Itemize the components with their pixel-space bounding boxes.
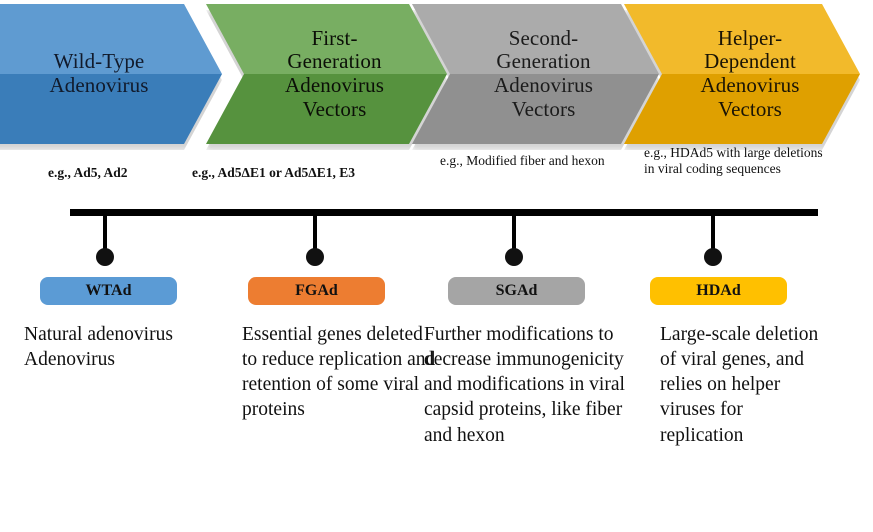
chevron-label-second-generation: Second-GenerationAdenovirusVectors: [468, 27, 603, 121]
description-helper-dependent: Large-scale deletion of viral genes, and…: [660, 322, 828, 448]
example-note-first-generation: e.g., Ad5ΔE1 or Ad5ΔE1, E3: [192, 165, 424, 181]
figure-canvas: Wild-TypeAdenovirus First-GenerationAden…: [0, 0, 873, 532]
example-note-second-generation: e.g., Modified fiber and hexon: [440, 153, 620, 169]
timeline-marker-first-generation: [306, 248, 324, 266]
timeline-marker-wild-type: [96, 248, 114, 266]
stage-badge-fgad[interactable]: FGAd: [248, 277, 385, 305]
stage-badge-hdad[interactable]: HDAd: [650, 277, 787, 305]
timeline-marker-second-generation: [505, 248, 523, 266]
stage-badge-sgad[interactable]: SGAd: [448, 277, 585, 305]
chevron-wild-type: Wild-TypeAdenovirus: [0, 4, 222, 144]
description-first-generation: Essential genes deleted to reduce replic…: [242, 322, 438, 423]
chevron-label-helper-dependent: Helper-DependentAdenovirusVectors: [675, 27, 810, 121]
description-wild-type: Natural adenovirusAdenovirus: [24, 322, 236, 372]
stage-badge-label-wtad: WTAd: [86, 282, 132, 300]
stage-badge-label-hdad: HDAd: [696, 282, 740, 300]
chevron-band: Wild-TypeAdenovirus First-GenerationAden…: [0, 0, 873, 148]
timeline-axis: [70, 209, 818, 216]
chevron-label-wild-type: Wild-TypeAdenovirus: [24, 50, 159, 97]
description-second-generation: Further modifications to decrease immuno…: [424, 322, 646, 448]
stage-badge-wtad[interactable]: WTAd: [40, 277, 177, 305]
chevron-label-first-generation: First-GenerationAdenovirusVectors: [259, 27, 394, 121]
stage-badge-label-sgad: SGAd: [496, 282, 538, 300]
stage-badge-label-fgad: FGAd: [295, 282, 338, 300]
example-note-helper-dependent: e.g., HDAd5 with large deletions in vira…: [644, 145, 834, 178]
timeline-marker-helper-dependent: [704, 248, 722, 266]
